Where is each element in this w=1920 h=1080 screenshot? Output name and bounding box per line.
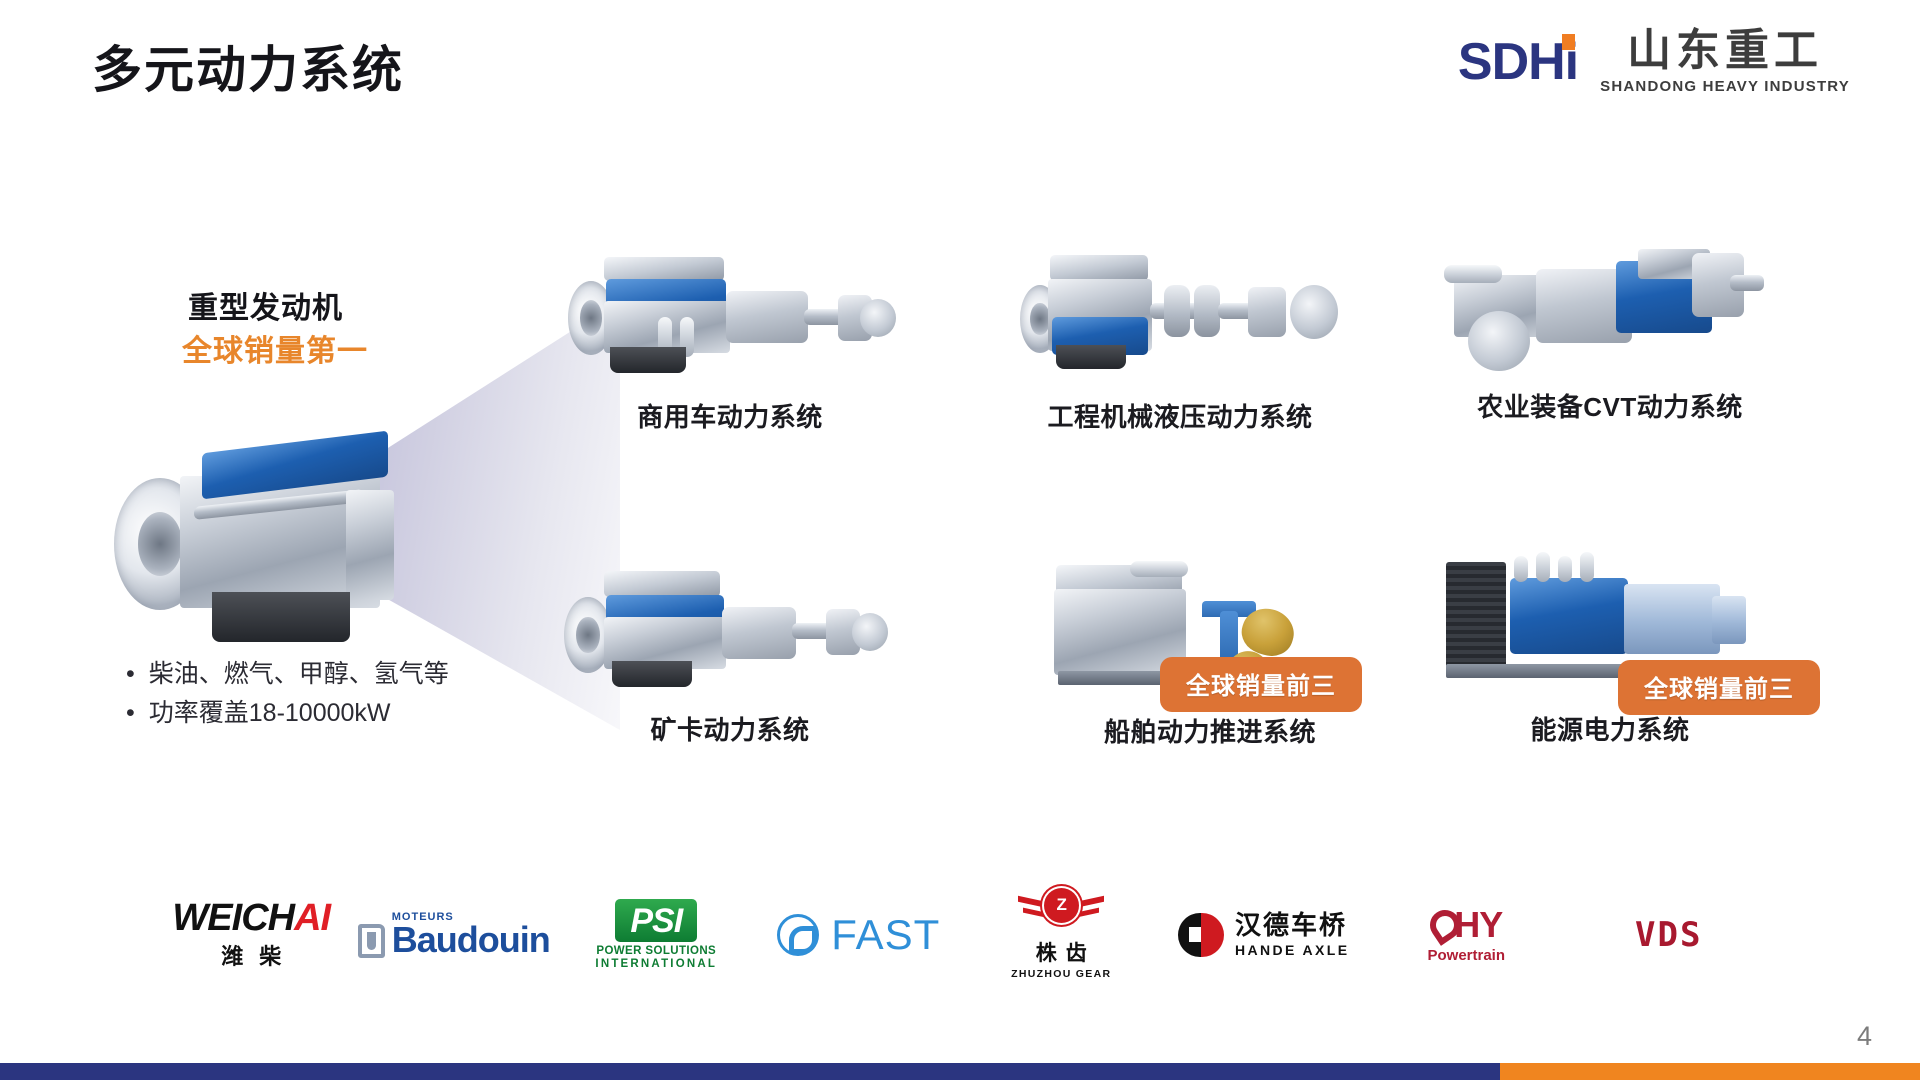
product-card-marine-propulsion[interactable]: 全球销量前三 船舶动力推进系统 <box>1030 555 1390 755</box>
slide-canvas: 多元动力系统 SDHi 山东重工 SHANDONG HEAVY INDUSTRY… <box>0 0 1920 1080</box>
psi-badge: PSI <box>615 899 697 942</box>
hero-engine-image <box>108 420 398 660</box>
lhy-sub-text: Powertrain <box>1427 947 1505 964</box>
psi-sub-line-2: INTERNATIONAL <box>595 958 717 971</box>
vds-wordmark: VDS <box>1635 915 1702 955</box>
partner-logo-hande-axle: 汉德车桥 HANDE AXLE <box>1163 880 1366 990</box>
partner-logo-baudouin: MOTEURS Baudouin <box>353 880 556 990</box>
product-label: 商用车动力系统 <box>560 397 900 434</box>
mining-truck-powertrain-image <box>560 555 900 695</box>
partner-logo-vds: VDS <box>1568 880 1771 990</box>
page-number: 4 <box>1857 1021 1872 1052</box>
brand-english-name: SHANDONG HEAVY INDUSTRY <box>1600 78 1850 95</box>
lhy-wordmark: HY <box>1454 907 1502 943</box>
hande-axle-chinese-name: 汉德车桥 <box>1235 912 1347 939</box>
product-card-energy-power[interactable]: 全球销量前三 能源电力系统 <box>1440 550 1780 755</box>
sdhi-wordmark: SDHi <box>1458 36 1578 88</box>
hero-title: 重型发动机 <box>188 283 343 327</box>
weichai-chinese-name: 潍柴 <box>205 939 297 971</box>
sdhi-accent-dot-icon <box>1562 34 1575 50</box>
product-label: 能源电力系统 <box>1440 710 1780 747</box>
partner-logo-zhuzhou-gear: Z 株齿 ZHUZHOU GEAR <box>960 880 1163 990</box>
hande-axle-english-name: HANDE AXLE <box>1235 942 1350 958</box>
construction-machinery-hydraulic-powertrain-image <box>1010 245 1350 380</box>
zhuzhou-gear-wing-icon: Z <box>1018 891 1104 931</box>
psi-sub-line-1: POWER SOLUTIONS <box>596 945 716 958</box>
hero-subtitle: 全球销量第一 <box>182 326 368 370</box>
status-badge: 全球销量前三 <box>1160 657 1362 712</box>
footer-bar <box>0 1063 1920 1080</box>
psi-wordmark: PSI <box>630 902 682 940</box>
fast-swirl-icon <box>777 914 819 956</box>
sdhi-wordmark-text: SDHi <box>1458 36 1578 88</box>
product-card-agricultural-cvt[interactable]: 农业装备CVT动力系统 <box>1440 235 1780 445</box>
product-label: 矿卡动力系统 <box>560 710 900 747</box>
weichai-wordmark-primary: WEICH <box>172 897 294 939</box>
product-label: 船舶动力推进系统 <box>1030 712 1390 749</box>
brand-chinese-name: 山东重工 <box>1627 28 1823 74</box>
product-card-commercial-vehicle[interactable]: 商用车动力系统 <box>560 245 900 445</box>
partner-logo-psi: PSI POWER SOLUTIONS INTERNATIONAL <box>555 880 758 990</box>
weichai-wordmark: WEICHAI <box>172 899 330 937</box>
product-card-construction-hydraulic[interactable]: 工程机械液压动力系统 <box>1010 245 1350 445</box>
weichai-wordmark-accent: AI <box>294 897 330 939</box>
baudouin-wordmark: Baudouin <box>392 923 550 957</box>
hero-bullet-item: 柴油、燃气、甲醇、氢气等 <box>126 655 449 694</box>
brand-logo: SDHi 山东重工 SHANDONG HEAVY INDUSTRY <box>1458 28 1850 95</box>
zhuzhou-gear-english-name: ZHUZHOU GEAR <box>1011 968 1111 980</box>
partner-logo-weichai: WEICHAI 潍柴 <box>150 880 353 990</box>
product-card-mining-truck[interactable]: 矿卡动力系统 <box>560 555 900 755</box>
brand-chinese-block: 山东重工 SHANDONG HEAVY INDUSTRY <box>1600 28 1850 95</box>
footer-bar-orange-segment <box>1500 1063 1920 1080</box>
product-label: 工程机械液压动力系统 <box>1010 397 1350 434</box>
partner-logo-lhy-powertrain: HY Powertrain <box>1365 880 1568 990</box>
zhuzhou-gear-chinese-name: 株齿 <box>1027 937 1096 967</box>
agricultural-cvt-powertrain-image <box>1440 235 1780 380</box>
page-title: 多元动力系统 <box>92 30 404 102</box>
hero-bullet-item: 功率覆盖18-10000kW <box>126 694 449 733</box>
footer-bar-navy-segment <box>0 1063 1500 1080</box>
commercial-vehicle-powertrain-image <box>560 245 900 380</box>
zhuzhou-gear-letter: Z <box>1047 891 1076 920</box>
status-badge: 全球销量前三 <box>1618 660 1820 715</box>
partner-logo-strip: WEICHAI 潍柴 MOTEURS Baudouin PSI POWER SO… <box>150 880 1770 990</box>
fast-wordmark: FAST <box>831 911 940 959</box>
product-label: 农业装备CVT动力系统 <box>1440 387 1780 424</box>
hande-axle-mark-icon <box>1178 913 1224 957</box>
hero-bullet-list: 柴油、燃气、甲醇、氢气等 功率覆盖18-10000kW <box>126 655 449 733</box>
baudouin-mark-icon <box>358 924 385 958</box>
partner-logo-fast: FAST <box>758 880 961 990</box>
